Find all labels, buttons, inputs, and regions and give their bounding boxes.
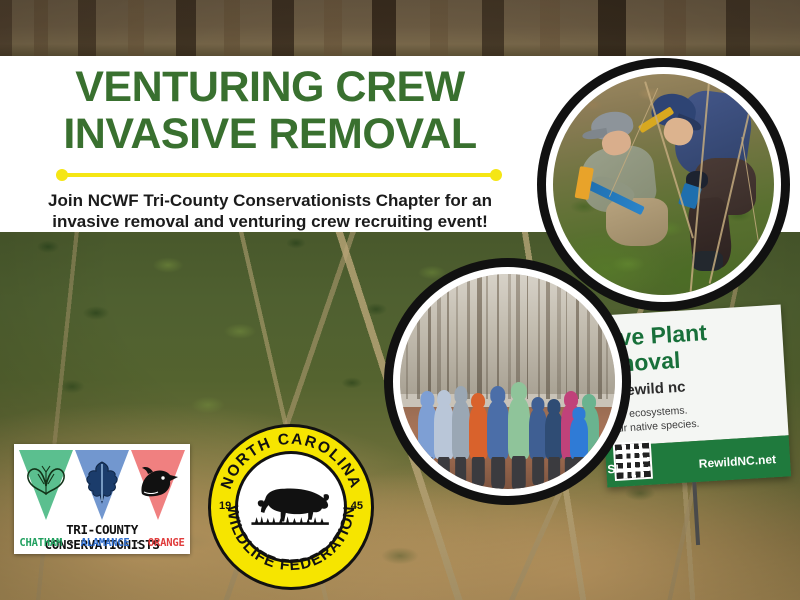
eagle-head-icon-art — [136, 464, 180, 500]
title-line-2: INVASIVE REMOVAL — [0, 111, 540, 158]
butterfly-icon — [19, 450, 73, 520]
county-alamance: ALAMANCE — [81, 537, 130, 549]
group-photo-person — [508, 398, 531, 459]
subtitle-line-1: Join NCWF Tri-County Conservationists Ch… — [0, 190, 540, 211]
butterfly-icon-art — [24, 464, 68, 500]
page-title: VENTURING CREW INVASIVE REMOVAL — [0, 56, 540, 158]
group-photo-person — [469, 406, 488, 459]
photo-image-group — [400, 274, 615, 489]
sign-tagline: ur ecosystems. ur native species. — [617, 403, 700, 436]
oak-leaf-icon-art — [85, 460, 119, 504]
tri-county-conservationists-logo: TRI-COUNTY CONSERVATIONISTS CHATHAM - AL… — [14, 444, 190, 554]
eagle-head-icon — [131, 450, 185, 520]
divider-bar — [60, 173, 498, 177]
oak-leaf-icon — [75, 450, 129, 520]
group-photo-person — [487, 401, 509, 459]
photo-image-workers — [553, 74, 774, 295]
subtitle: Join NCWF Tri-County Conservationists Ch… — [0, 190, 540, 232]
county-orange: ORANGE — [148, 537, 185, 549]
seal-arc-bottom-text: WILDLIFE FEDERATION — [224, 504, 359, 574]
county-chatham: CHATHAM — [19, 537, 62, 549]
yellow-divider — [56, 169, 502, 181]
group-photo-person — [452, 401, 470, 459]
seal-arc-top-text: NORTH CAROLINA — [218, 431, 364, 492]
ncwf-seal-logo: NORTH CAROLINA WILDLIFE FEDERATION 19 45 — [208, 424, 374, 590]
seal-year-left: 19 — [219, 500, 231, 512]
county-separator-1: - — [68, 537, 74, 549]
county-separator-2: - — [136, 537, 142, 549]
logo-triangle-panels — [19, 450, 185, 520]
svg-text:NORTH CAROLINA: NORTH CAROLINA — [218, 431, 364, 492]
seal-year-right: 45 — [351, 500, 363, 512]
group-photo-person — [434, 404, 453, 459]
group-photo-person — [570, 418, 588, 459]
photo-group-in-rain — [384, 258, 631, 505]
svg-text:WILDLIFE FEDERATION: WILDLIFE FEDERATION — [224, 504, 359, 574]
subtitle-line-2: invasive removal and venturing crew recr… — [0, 211, 540, 232]
seal-arc-text: NORTH CAROLINA WILDLIFE FEDERATION — [208, 424, 374, 590]
divider-dot-right — [490, 169, 502, 181]
tri-county-logo-counties: CHATHAM - ALAMANCE - ORANGE — [14, 537, 190, 549]
flyer-canvas: ive Plant moval Rewild nc ur ecosystems.… — [0, 0, 800, 600]
title-line-1: VENTURING CREW — [0, 64, 540, 111]
